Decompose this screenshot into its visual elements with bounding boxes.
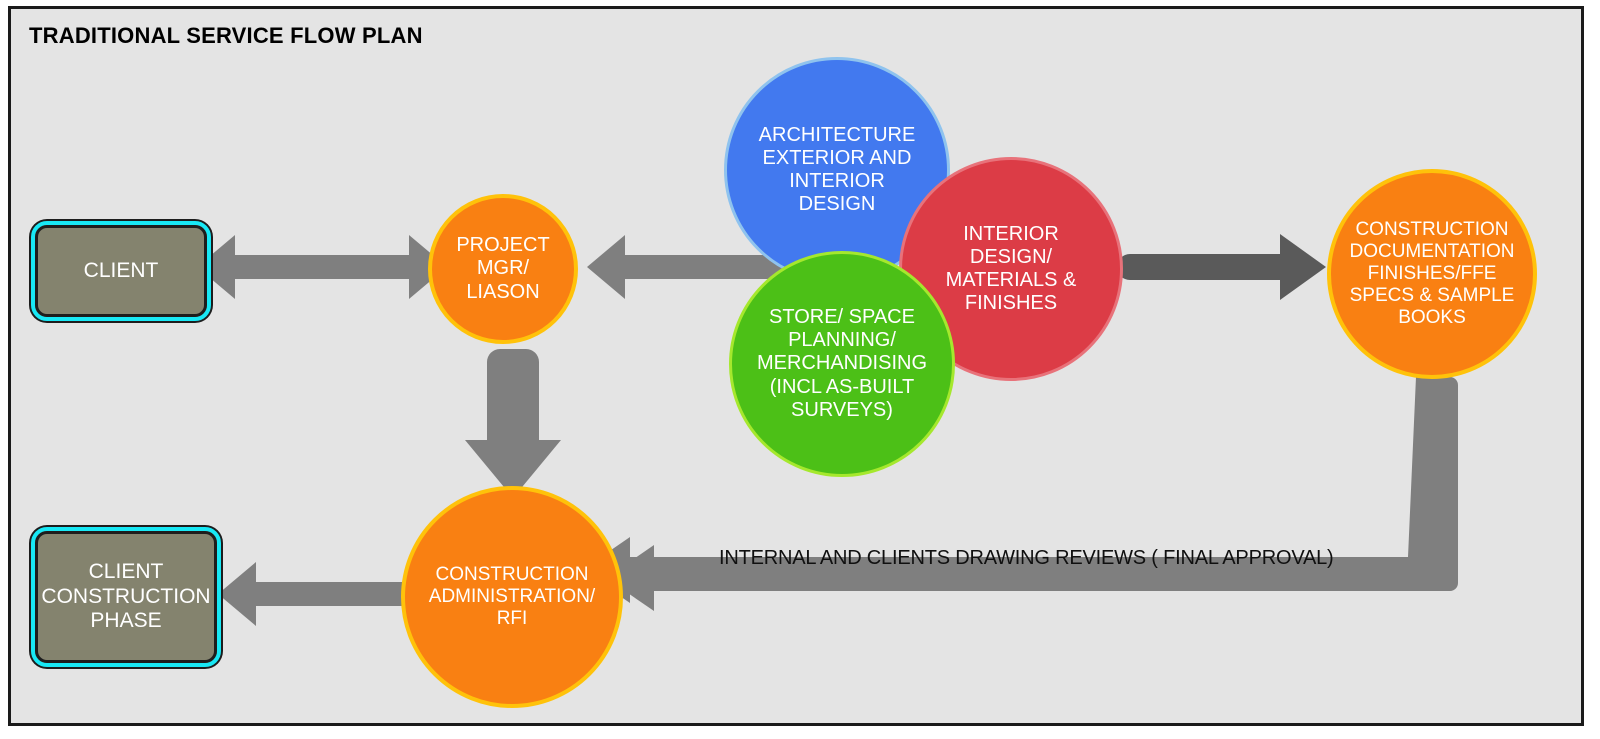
project-manager-to-construction-admin-arrow [465,349,561,498]
node-store-space-planning-label: STORE/ SPACE PLANNING/ MERCHANDISING (IN… [757,306,927,422]
node-construction-administration-label: CONSTRUCTION ADMINISTRATION/ RFI [429,564,595,630]
node-store-space-planning[interactable]: STORE/ SPACE PLANNING/ MERCHANDISING (IN… [729,251,955,477]
node-project-manager[interactable]: PROJECT MGR/ LIASON [428,194,578,344]
design-to-documentation-arrow [1117,234,1326,300]
node-architecture-label: ARCHITECTURE EXTERIOR AND INTERIOR DESIG… [759,124,916,217]
review-connector-label: INTERNAL AND CLIENTS DRAWING REVIEWS ( F… [719,547,1334,570]
node-client-construction-phase[interactable]: CLIENT CONSTRUCTION PHASE [31,527,221,667]
node-client[interactable]: CLIENT [31,221,211,321]
diagram-frame: TRADITIONAL SERVICE FLOW PLAN INTERNAL [8,6,1584,726]
node-project-manager-label: PROJECT MGR/ LIASON [456,234,549,304]
node-client-construction-phase-label: CLIENT CONSTRUCTION PHASE [41,560,210,633]
node-construction-administration[interactable]: CONSTRUCTION ADMINISTRATION/ RFI [401,486,623,708]
node-interior-design-label: INTERIOR DESIGN/ MATERIALS & FINISHES [946,223,1077,316]
node-construction-documentation[interactable]: CONSTRUCTION DOCUMENTATION FINISHES/FFE … [1327,169,1537,379]
documentation-to-construction-admin-arrow [582,377,1458,611]
client-to-project-manager-arrow [197,235,447,299]
node-client-label: CLIENT [84,259,159,283]
node-construction-documentation-label: CONSTRUCTION DOCUMENTATION FINISHES/FFE … [1349,219,1514,329]
page-title: TRADITIONAL SERVICE FLOW PLAN [29,23,423,49]
